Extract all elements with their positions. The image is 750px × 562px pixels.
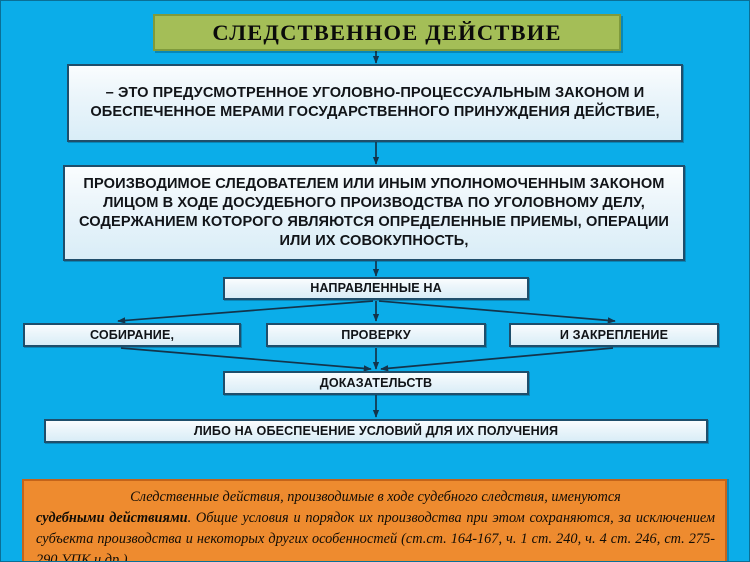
node-gathering: СОБИРАНИЕ, (23, 323, 241, 347)
arrow-aimed-to-securing (379, 301, 615, 321)
footer-note-bold-phrase: судебными действиями (36, 510, 188, 526)
arrow-securing-to-evidence (381, 348, 613, 369)
node-aimed-at-label: НАПРАВЛЕННЫЕ НА (231, 280, 521, 296)
footer-note: Следственные действия, производимые в хо… (22, 479, 727, 562)
footer-note-line1: Следственные действия, производимые в хо… (36, 487, 715, 508)
node-aimed-at: НАПРАВЛЕННЫЕ НА (223, 277, 529, 300)
node-securing-label: И ЗАКРЕПЛЕНИЕ (517, 327, 711, 343)
node-checking: ПРОВЕРКУ (266, 323, 486, 347)
node-definition-label: – ЭТО ПРЕДУСМОТРЕННОЕ УГОЛОВНО-ПРОЦЕССУА… (75, 84, 675, 122)
node-evidence-label: ДОКАЗАТЕЛЬСТВ (231, 375, 521, 391)
diagram-title-label: СЛЕДСТВЕННОЕ ДЕЙСТВИЕ (212, 20, 561, 46)
slide-canvas: СЛЕДСТВЕННОЕ ДЕЙСТВИЕ – ЭТО ПРЕДУСМОТРЕН… (0, 0, 750, 562)
node-produced-by-label: ПРОИЗВОДИМОЕ СЛЕДОВАТЕЛЕМ ИЛИ ИНЫМ УПОЛН… (71, 175, 677, 251)
diagram-title: СЛЕДСТВЕННОЕ ДЕЙСТВИЕ (153, 14, 621, 51)
node-conditions-label: ЛИБО НА ОБЕСПЕЧЕНИЕ УСЛОВИЙ ДЛЯ ИХ ПОЛУЧ… (52, 423, 700, 439)
node-definition: – ЭТО ПРЕДУСМОТРЕННОЕ УГОЛОВНО-ПРОЦЕССУА… (67, 64, 683, 142)
arrow-aimed-to-gathering (118, 301, 373, 321)
node-produced-by: ПРОИЗВОДИМОЕ СЛЕДОВАТЕЛЕМ ИЛИ ИНЫМ УПОЛН… (63, 165, 685, 261)
footer-note-text: Следственные действия, производимые в хо… (36, 487, 715, 562)
node-securing: И ЗАКРЕПЛЕНИЕ (509, 323, 719, 347)
node-evidence: ДОКАЗАТЕЛЬСТВ (223, 371, 529, 395)
node-gathering-label: СОБИРАНИЕ, (31, 327, 233, 343)
node-checking-label: ПРОВЕРКУ (274, 327, 478, 343)
node-conditions: ЛИБО НА ОБЕСПЕЧЕНИЕ УСЛОВИЙ ДЛЯ ИХ ПОЛУЧ… (44, 419, 708, 443)
arrow-gathering-to-evidence (121, 348, 371, 369)
